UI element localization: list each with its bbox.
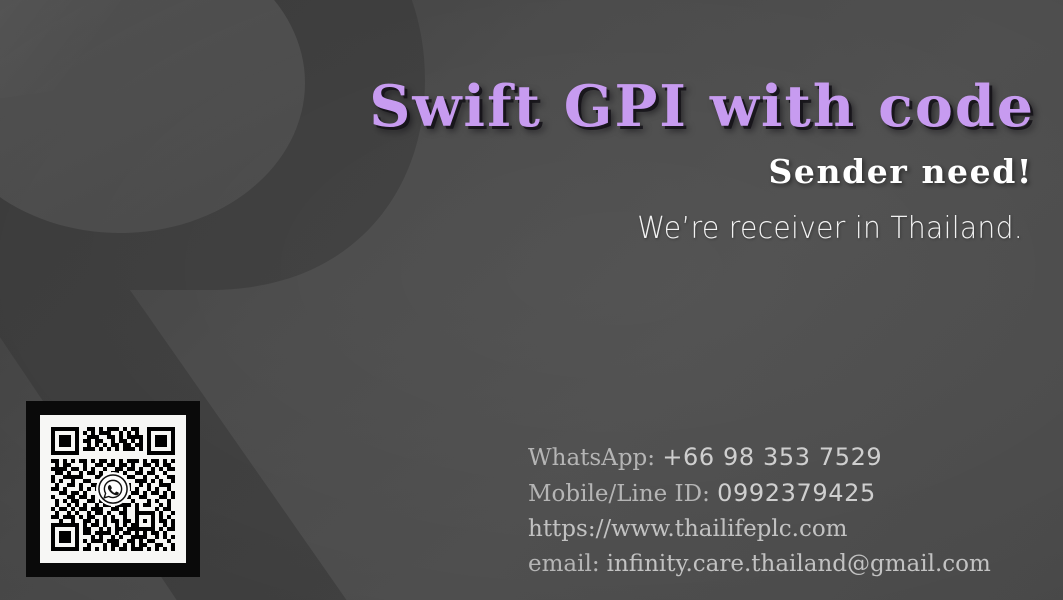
mobile-number[interactable]: 0992379425 xyxy=(717,479,876,507)
website-url[interactable]: https://www.thailifeplc.com xyxy=(528,516,847,542)
whatsapp-qr-code[interactable] xyxy=(26,401,200,577)
contact-block: WhatsApp: +66 98 353 7529 Mobile/Line ID… xyxy=(528,440,998,582)
tagline: We’re receiver in Thailand. xyxy=(61,210,1023,248)
contact-row-website: https://www.thailifeplc.com xyxy=(528,512,998,547)
whatsapp-label: WhatsApp: xyxy=(528,445,655,471)
email-label: email: xyxy=(528,551,600,577)
whatsapp-icon xyxy=(96,472,130,506)
qr-code-canvas xyxy=(40,415,186,563)
business-card: Swift GPI with code Sender need! We’re r… xyxy=(0,0,1063,600)
contact-row-email: email: infinity.care.thailand@gmail.com xyxy=(528,547,998,582)
contact-row-whatsapp: WhatsApp: +66 98 353 7529 xyxy=(528,440,998,476)
contact-row-mobile: Mobile/Line ID: 0992379425 xyxy=(528,476,998,512)
subtitle: Sender need! xyxy=(0,155,1033,188)
mobile-label: Mobile/Line ID: xyxy=(528,481,710,507)
email-address[interactable]: infinity.care.thailand@gmail.com xyxy=(607,551,991,577)
page-title: Swift GPI with code xyxy=(0,78,1035,135)
whatsapp-number[interactable]: +66 98 353 7529 xyxy=(662,443,882,471)
